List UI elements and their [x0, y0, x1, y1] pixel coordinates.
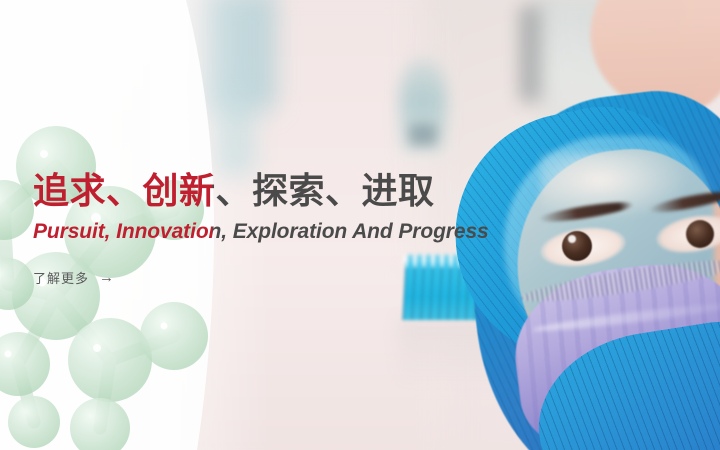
iris-right	[686, 220, 714, 248]
learn-more-label: 了解更多	[33, 268, 89, 287]
hero-banner: 追求、创新、探索、进取 Pursuit, Innovation, Explora…	[0, 0, 720, 450]
page-subtitle: Pursuit, Innovation, Exploration And Pro…	[33, 220, 673, 244]
arrow-right-icon: →	[99, 270, 115, 285]
lab-equipment-teal	[205, 0, 275, 110]
page-title: 追求、创新、探索、进取	[33, 170, 673, 212]
learn-more-link[interactable]: 了解更多 →	[33, 268, 115, 287]
lab-equipment-teal-lower	[214, 96, 254, 176]
hero-copy: 追求、创新、探索、进取 Pursuit, Innovation, Explora…	[33, 170, 673, 288]
